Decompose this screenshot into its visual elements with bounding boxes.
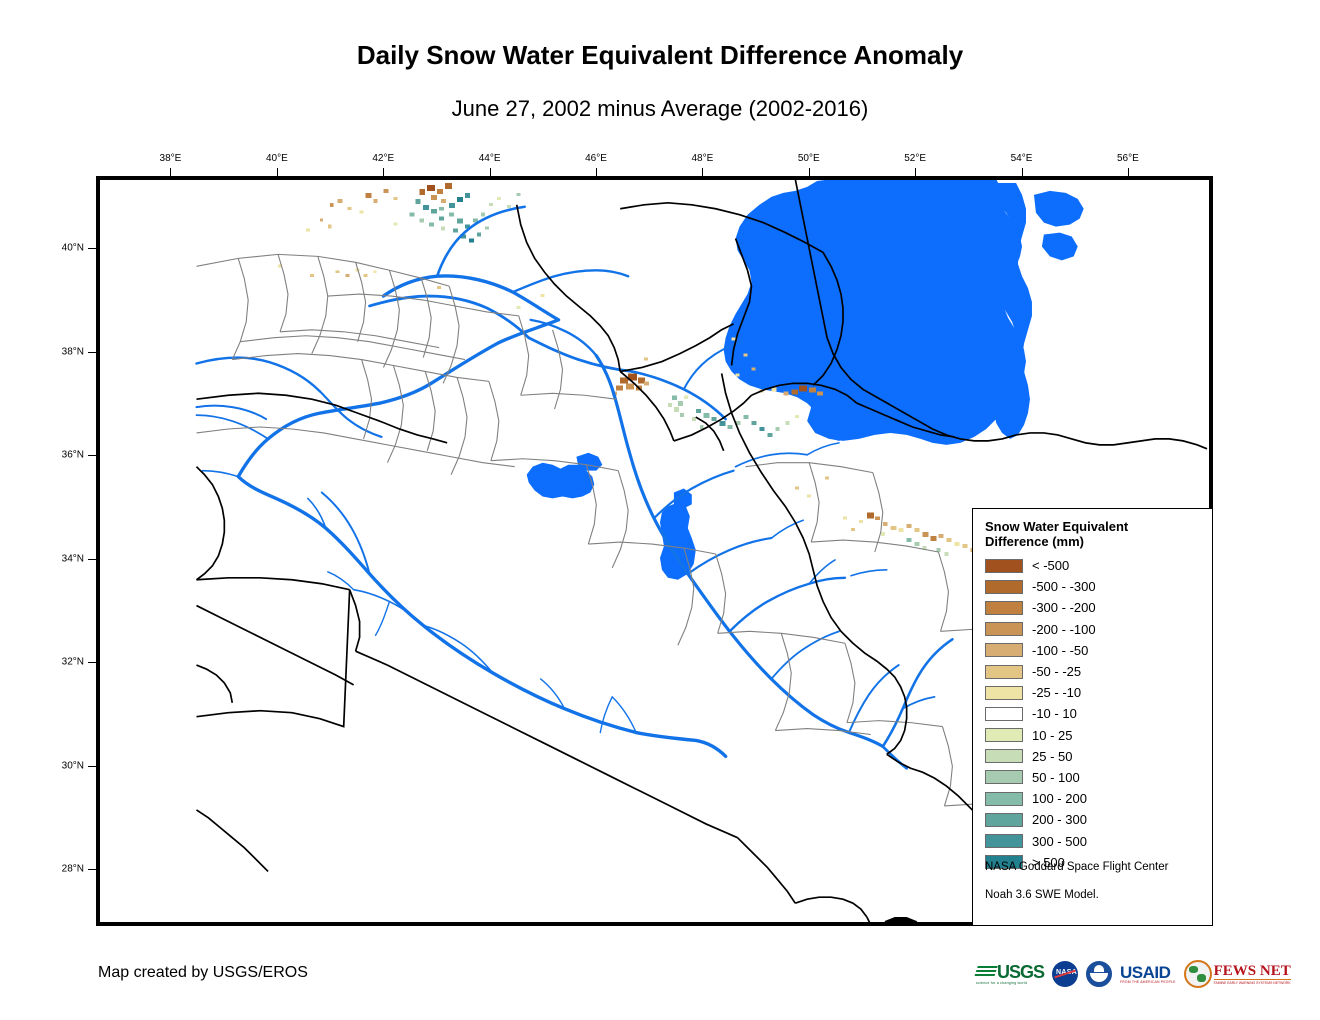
river-euphrates-murat xyxy=(513,270,628,292)
legend-swatch xyxy=(985,749,1023,763)
river-karun xyxy=(883,639,953,746)
legend-note-line1: NASA Goddard Space Flight Center xyxy=(985,860,1168,874)
lat-tick xyxy=(88,248,96,249)
legend-label: < -500 xyxy=(1032,558,1069,573)
lon-tick xyxy=(702,168,703,176)
usaid-wordmark: USAID xyxy=(1120,965,1170,980)
nasa-wordmark: NASA xyxy=(1056,969,1077,976)
anomaly-armenia-teal xyxy=(668,395,688,417)
legend-row: -25 - -10 xyxy=(985,682,1212,703)
legend-row: -100 - -50 xyxy=(985,640,1212,661)
legend-label: -500 - -300 xyxy=(1032,579,1096,594)
fews-wordmark: FEWS NET xyxy=(1214,964,1291,978)
lon-label: 52°E xyxy=(904,153,926,164)
legend-swatch xyxy=(985,601,1023,615)
lon-tick xyxy=(596,168,597,176)
border-georgia-south xyxy=(620,324,733,372)
lon-label: 40°E xyxy=(266,153,288,164)
border-turkey-east xyxy=(517,205,620,372)
legend-label: -300 - -200 xyxy=(1032,600,1096,615)
caspian-east-shelf xyxy=(1034,191,1084,227)
legend-title: Snow Water Equivalent Difference (mm) xyxy=(985,519,1185,549)
lon-label: 48°E xyxy=(691,153,713,164)
legend-row: 50 - 100 xyxy=(985,767,1212,788)
lon-label: 46°E xyxy=(585,153,607,164)
lon-tick xyxy=(277,168,278,176)
border-iraq-syria xyxy=(196,578,349,590)
legend-label: 50 - 100 xyxy=(1032,770,1080,785)
lon-label: 54°E xyxy=(1011,153,1033,164)
legend-note-line2: Noah 3.6 SWE Model. xyxy=(985,888,1168,902)
lat-label: 40°N xyxy=(62,243,84,254)
legend-label: 100 - 200 xyxy=(1032,791,1087,806)
river-north-1 xyxy=(196,358,319,392)
lon-label: 50°E xyxy=(798,153,820,164)
legend-swatch xyxy=(985,622,1023,636)
legend-swatch xyxy=(985,770,1023,784)
lat-tick xyxy=(88,766,96,767)
legend-swatch xyxy=(985,813,1023,827)
river-euphrates-trib-2 xyxy=(202,471,238,477)
river-euph-w-trib-d xyxy=(376,602,390,636)
noaa-logo xyxy=(1086,958,1112,990)
lat-label: 30°N xyxy=(62,760,84,771)
usgs-wordmark: USGS xyxy=(997,964,1044,980)
anomaly-caucasus xyxy=(306,183,521,243)
noaa-seal-icon xyxy=(1086,961,1112,987)
lat-label: 34°N xyxy=(62,553,84,564)
legend-row: 25 - 50 xyxy=(985,746,1212,767)
legend-label: 10 - 25 xyxy=(1032,728,1072,743)
usaid-logo: USAID FROM THE AMERICAN PEOPLE xyxy=(1120,958,1176,990)
river-north-3 xyxy=(196,406,266,419)
usgs-logo: USGS science for a changing world xyxy=(976,958,1044,990)
coast-sinai xyxy=(196,810,268,872)
border-iraq-kuwait xyxy=(795,897,867,917)
lat-tick xyxy=(88,352,96,353)
usaid-tagline: FROM THE AMERICAN PEOPLE xyxy=(1120,980,1176,984)
lon-tick xyxy=(915,168,916,176)
lat-label: 38°N xyxy=(62,346,84,357)
river-balikh xyxy=(308,498,326,528)
legend-row: 200 - 300 xyxy=(985,809,1212,830)
legend-row: -300 - -200 xyxy=(985,597,1212,618)
legend-label: -100 - -50 xyxy=(1032,643,1088,658)
border-caspian-east xyxy=(1016,433,1207,449)
border-nakhchivan xyxy=(696,417,724,451)
river-caspian-s xyxy=(851,570,887,576)
logo-strip: USGS science for a changing world NASA U… xyxy=(976,956,1291,992)
legend-swatch xyxy=(985,792,1023,806)
river-euphrates-north xyxy=(437,207,525,276)
river-diyala xyxy=(730,578,845,632)
river-adhaim xyxy=(771,631,839,679)
legend-label: 25 - 50 xyxy=(1032,749,1072,764)
fews-globe-icon xyxy=(1184,960,1212,988)
legend-label: -25 - -10 xyxy=(1032,685,1081,700)
page-subtitle: June 27, 2002 minus Average (2002-2016) xyxy=(0,96,1320,122)
lat-tick xyxy=(88,559,96,560)
lon-tick xyxy=(170,168,171,176)
legend-row: 100 - 200 xyxy=(985,788,1212,809)
legend-panel[interactable]: Snow Water Equivalent Difference (mm) < … xyxy=(972,508,1213,926)
map-credit: Map created by USGS/EROS xyxy=(98,964,308,982)
caspian-east-shelf-2 xyxy=(1042,233,1078,261)
border-jordan-saudi-west xyxy=(196,590,349,727)
page-title: Daily Snow Water Equivalent Difference A… xyxy=(0,40,1320,71)
river-euph-w-trib-g xyxy=(600,697,612,733)
coast-levant-2 xyxy=(196,665,232,703)
lat-tick xyxy=(88,662,96,663)
legend-source-note: NASA Goddard Space Flight Center Noah 3.… xyxy=(985,846,1168,916)
border-turkey-south xyxy=(196,393,447,443)
legend-label: -200 - -100 xyxy=(1032,622,1096,637)
legend-label: -50 - -25 xyxy=(1032,664,1081,679)
lon-tick xyxy=(490,168,491,176)
legend-swatch xyxy=(985,665,1023,679)
legend-label: 200 - 300 xyxy=(1032,812,1087,827)
legend-title-line1: Snow Water Equivalent xyxy=(985,519,1185,534)
lon-tick xyxy=(809,168,810,176)
legend-title-line2: Difference (mm) xyxy=(985,534,1185,549)
legend-label: -10 - 10 xyxy=(1032,706,1077,721)
lon-tick xyxy=(1022,168,1023,176)
legend-row: -200 - -100 xyxy=(985,619,1212,640)
legend-row: < -500 xyxy=(985,555,1212,576)
usgs-tagline: science for a changing world xyxy=(976,981,1027,985)
lon-tick xyxy=(383,168,384,176)
lon-label: 38°E xyxy=(160,153,182,164)
lat-label: 32°N xyxy=(62,657,84,668)
river-kura xyxy=(370,296,529,338)
lon-label: 44°E xyxy=(479,153,501,164)
legend-row: -10 - 10 xyxy=(985,703,1212,724)
river-iran-nw xyxy=(736,453,808,466)
anomaly-azerbaijan xyxy=(692,409,799,437)
river-lesser-zab xyxy=(688,538,772,574)
legend-class-list: < -500-500 - -300-300 - -200-200 - -100-… xyxy=(985,555,1212,873)
legend-swatch xyxy=(985,728,1023,742)
lon-tick xyxy=(1128,168,1129,176)
nasa-meatball-icon: NASA xyxy=(1052,961,1078,987)
fews-net-logo: FEWS NET FAMINE EARLY WARNING SYSTEMS NE… xyxy=(1184,958,1291,990)
lat-label: 36°N xyxy=(62,450,84,461)
border-saudi-kuwait xyxy=(738,838,796,903)
border-iraq-jordan-saudi xyxy=(356,651,738,837)
legend-swatch xyxy=(985,707,1023,721)
legend-row: -500 - -300 xyxy=(985,576,1212,597)
fews-tagline: FAMINE EARLY WARNING SYSTEMS NETWORK xyxy=(1214,979,1291,985)
border-syria-jordan xyxy=(350,590,360,652)
lat-tick xyxy=(88,455,96,456)
lat-tick xyxy=(88,869,96,870)
lon-label: 42°E xyxy=(372,153,394,164)
legend-swatch xyxy=(985,580,1023,594)
coast-levant xyxy=(196,467,224,580)
legend-swatch xyxy=(985,559,1023,573)
legend-swatch xyxy=(985,643,1023,657)
legend-row: -50 - -25 xyxy=(985,661,1212,682)
lon-label: 56°E xyxy=(1117,153,1139,164)
legend-swatch xyxy=(985,686,1023,700)
usgs-wave-icon xyxy=(974,964,999,979)
border-syria-inner xyxy=(196,606,353,685)
river-north-2 xyxy=(320,391,382,437)
nasa-logo: NASA xyxy=(1052,958,1078,990)
legend-row: 10 - 25 xyxy=(985,725,1212,746)
river-iran-n2 xyxy=(807,443,839,455)
lat-label: 28°N xyxy=(62,864,84,875)
